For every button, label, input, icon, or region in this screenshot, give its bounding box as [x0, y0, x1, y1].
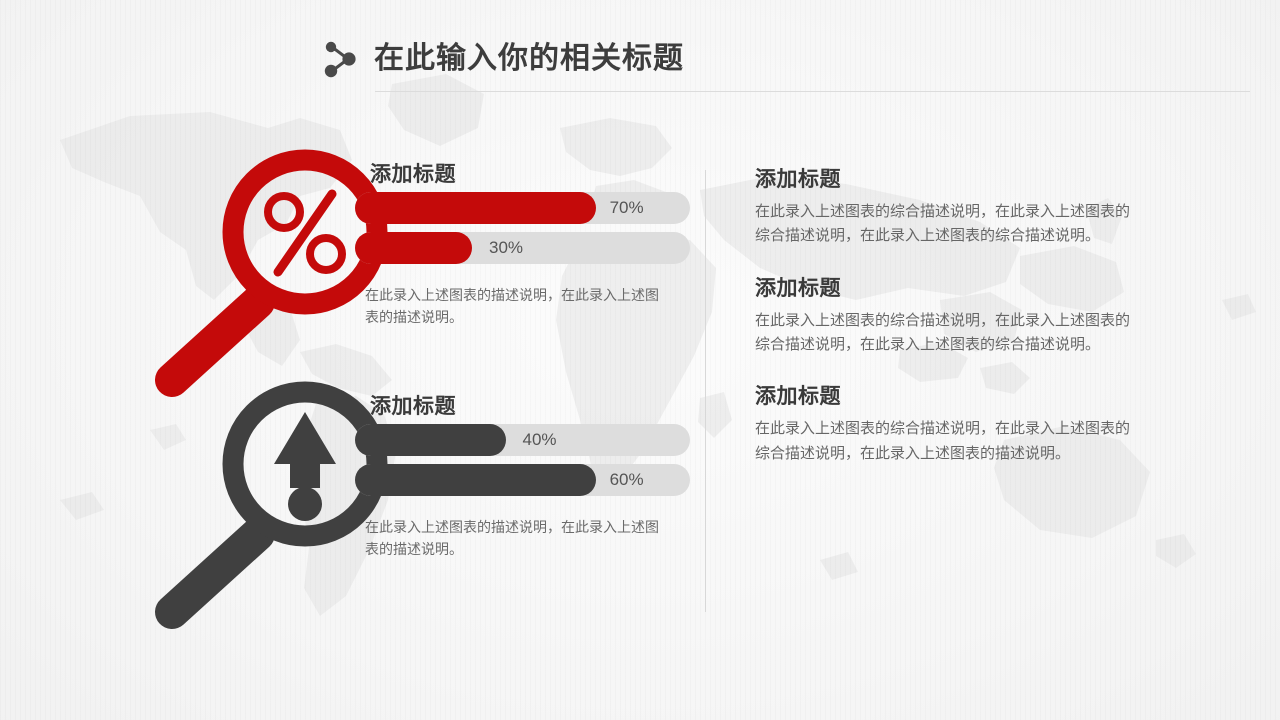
bar-label: 40% — [523, 424, 557, 456]
right-item-heading: 添加标题 — [755, 277, 1130, 300]
bar-chart-dark: 40% 60% — [355, 424, 690, 504]
right-item-heading: 添加标题 — [755, 385, 1130, 408]
bar-fill — [355, 232, 472, 264]
slide-header: 在此输入你的相关标题 — [320, 36, 684, 82]
right-item-heading: 添加标题 — [755, 168, 1130, 191]
block-description-dark: 在此录入上述图表的描述说明，在此录入上述图表的描述说明。 — [365, 517, 665, 560]
bar-row: 60% — [355, 464, 690, 496]
slide-canvas: 在此输入你的相关标题 添加标题 70% — [0, 0, 1280, 720]
bar-fill — [355, 192, 596, 224]
bar-label: 70% — [610, 192, 644, 224]
right-item-text: 在此录入上述图表的综合描述说明，在此录入上述图表的综合描述说明，在此录入上述图表… — [755, 309, 1130, 358]
header-divider — [375, 91, 1250, 92]
right-item: 添加标题 在此录入上述图表的综合描述说明，在此录入上述图表的综合描述说明，在此录… — [755, 277, 1130, 358]
bar-fill — [355, 424, 506, 456]
share-nodes-icon — [320, 38, 362, 80]
block-heading-dark: 添加标题 — [370, 390, 456, 420]
page-title: 在此输入你的相关标题 — [374, 44, 684, 74]
bar-row: 40% — [355, 424, 690, 456]
right-item-text: 在此录入上述图表的综合描述说明，在此录入上述图表的综合描述说明，在此录入上述图表… — [755, 417, 1130, 466]
info-block-dark: 添加标题 40% 60% 在此录入上述图表的描述说明，在此录入上述图表的描述说明… — [150, 382, 690, 627]
column-divider — [705, 170, 706, 612]
block-heading-red: 添加标题 — [370, 158, 456, 188]
bar-label: 60% — [610, 464, 644, 496]
block-description-red: 在此录入上述图表的描述说明，在此录入上述图表的描述说明。 — [365, 285, 665, 328]
bar-label: 30% — [489, 232, 523, 264]
info-block-red: 添加标题 70% 30% 在此录入上述图表的描述说明，在此录入上述图表的描述说明… — [150, 150, 690, 390]
right-text-column: 添加标题 在此录入上述图表的综合描述说明，在此录入上述图表的综合描述说明，在此录… — [755, 168, 1130, 466]
bar-row: 70% — [355, 192, 690, 224]
bar-chart-red: 70% 30% — [355, 192, 690, 272]
bar-row: 30% — [355, 232, 690, 264]
right-item: 添加标题 在此录入上述图表的综合描述说明，在此录入上述图表的综合描述说明，在此录… — [755, 168, 1130, 249]
right-item: 添加标题 在此录入上述图表的综合描述说明，在此录入上述图表的综合描述说明，在此录… — [755, 385, 1130, 466]
right-item-text: 在此录入上述图表的综合描述说明，在此录入上述图表的综合描述说明，在此录入上述图表… — [755, 200, 1130, 249]
bar-fill — [355, 464, 596, 496]
